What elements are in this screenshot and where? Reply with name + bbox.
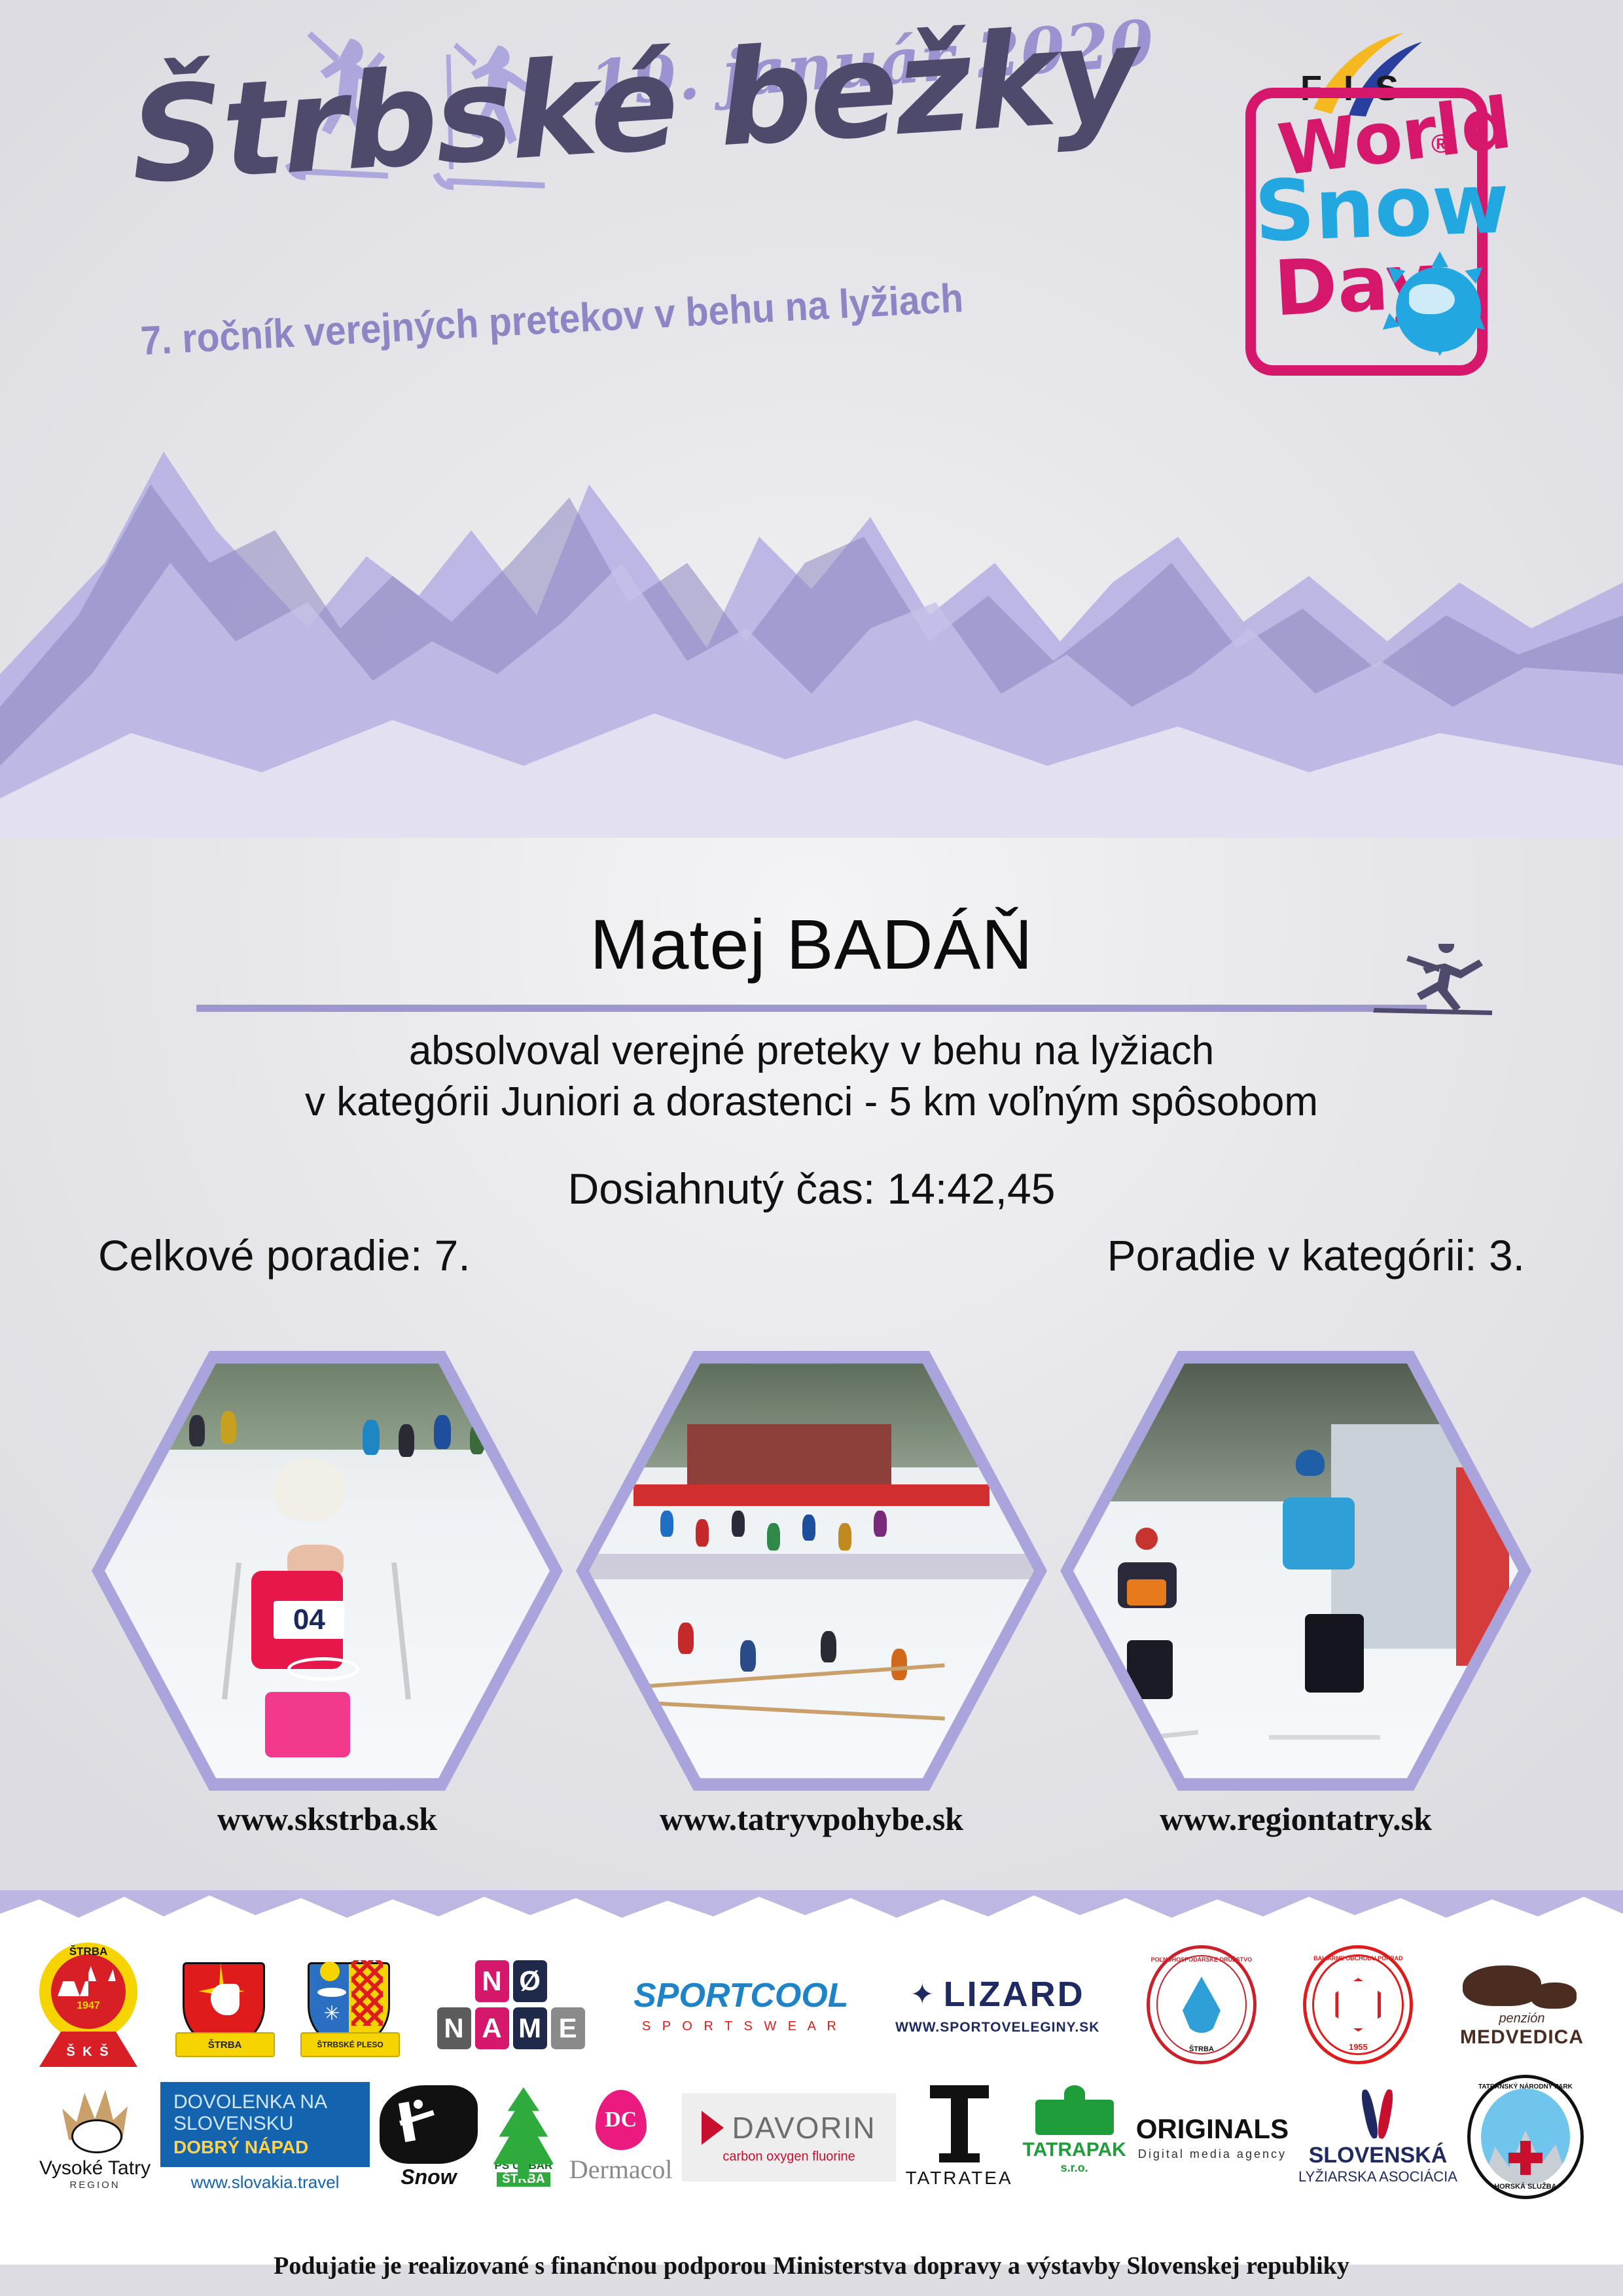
photo-image-1: 04	[105, 1355, 550, 1787]
sponsor-tatrapak: TATRAPAK s.r.o.	[1023, 2100, 1126, 2175]
overall-rank: Celkové poradie: 7.	[98, 1230, 471, 1280]
sponsor-label: MEDVEDICA	[1460, 2026, 1584, 2049]
poster-page: ˇ 19. január 2020 Štrbské bežky 7. roční…	[0, 0, 1623, 2296]
world-snow-day-logo: F I S World ® Snow Day	[1240, 31, 1495, 385]
sponsor-label: TATRANSKÝ NÁRODNÝ PARK	[1471, 2083, 1580, 2090]
sponsor-slovakia-travel: DOVOLENKA NA SLOVENSKU DOBRÝ NÁPAD www.s…	[160, 2082, 370, 2193]
page-subtitle: 7. ročník verejných pretekov v behu na l…	[139, 264, 1164, 365]
sponsor-horska-sluzba: TATRANSKÝ NÁRODNÝ PARK HORSKÁ SLUŽBA	[1467, 2075, 1584, 2199]
funding-note: Podujatie je realizované s finančnou pod…	[0, 2251, 1623, 2280]
sponsor-baliarne-poprad: BALIARNE OBCHODU POPRAD 1955	[1303, 1945, 1413, 2064]
sponsor-row-2: Vysoké Tatry REGION DOVOLENKA NA SLOVENS…	[39, 2075, 1584, 2199]
poster-header: ˇ 19. január 2020 Štrbské bežky 7. roční…	[0, 0, 1623, 419]
sponsor-davorin: DAVORIN carbon oxygen fluorine	[682, 2093, 895, 2181]
sponsor-pd-strba: POĽNOHOSPODÁRSKE DRUŽSTVO ŠTRBA	[1147, 1945, 1257, 2064]
photo-image-3	[1073, 1355, 1518, 1787]
sponsor-sub2: www.slovakia.travel	[191, 2172, 340, 2193]
sponsor-originals: ORIGINALS Digital media agency	[1136, 2113, 1289, 2161]
sponsor-label: SLOVENSKÁ	[1309, 2143, 1448, 2168]
sponsor-label: ORIGINALS	[1136, 2113, 1289, 2145]
sponsor-sub: LYŽIARSKA ASOCIÁCIA	[1298, 2168, 1457, 2185]
sponsor-label: Dermacol	[569, 2154, 673, 2185]
sponsor-label: TATRAPAK	[1023, 2139, 1126, 2161]
sponsor-sub: DOBRÝ NÁPAD	[173, 2137, 357, 2158]
sponsor-sub: 1955	[1306, 2042, 1410, 2052]
photo-hexagon-2[interactable]: www.tatryvpohybe.sk	[576, 1342, 1047, 1800]
sponsor-sub2: Š K Š	[39, 2045, 137, 2060]
bib-number-1: 04	[274, 1601, 344, 1639]
sponsor-slovenska-lyziarska: SLOVENSKÁ LYŽIARSKA ASOCIÁCIA	[1298, 2089, 1457, 2185]
sponsor-strbske-pleso: ✳ ŠTRBSKÉ PLESO	[310, 1952, 388, 2057]
skier-icon	[1368, 944, 1499, 1016]
sponsor-dermacol: DC Dermacol	[569, 2090, 673, 2185]
sponsor-label: ŠTRBA	[175, 2032, 275, 2057]
sponsor-label: POĽNOHOSPODÁRSKE DRUŽSTVO	[1150, 1956, 1253, 1963]
sponsor-sub: WWW.SPORTOVELEGINY.SK	[895, 2020, 1099, 2036]
sponsor-ps-urbar-strba: PS URBÁR ŠTRBA	[488, 2087, 560, 2187]
sponsor-noname: N Ø N A M E	[435, 1960, 587, 2049]
sponsor-row-1: ŠTRBA 1947 Š K Š ŠTRBA ✳ ŠTRBSKÉ PLESO	[39, 1936, 1584, 2073]
photo-hexagon-1[interactable]: 04 www.skstrba.sk	[92, 1342, 563, 1800]
certificate-line-1: absolvoval verejné preteky v behu na lyž…	[0, 1028, 1623, 1074]
sponsor-label: ŠTRBA	[39, 1945, 137, 1958]
sponsor-sub: ŠTRBA	[1150, 2045, 1253, 2053]
photo-caption-3: www.regiontatry.sk	[1060, 1800, 1531, 1838]
sponsor-lizard: ✦ LIZARD WWW.SPORTOVELEGINY.SK	[895, 1974, 1099, 2036]
sponsor-sub: Digital media agency	[1138, 2147, 1287, 2161]
photo-hexagon-3[interactable]: www.regiontatry.sk	[1060, 1342, 1531, 1800]
sponsor-label: DOVOLENKA NA SLOVENSKU	[173, 2091, 357, 2134]
sponsor-sub: REGION	[69, 2179, 120, 2191]
sponsor-sub: S P O R T S W E A R	[642, 2019, 840, 2034]
lizard-icon: ✦	[910, 1978, 935, 2011]
sponsor-label: DAVORIN	[732, 2110, 876, 2145]
sponsor-tatratea: TATRATEA	[906, 2085, 1013, 2189]
sponsor-label: BALIARNE OBCHODU POPRAD	[1306, 1955, 1410, 1962]
rank-row: Celkové poradie: 7. Poradie v kategórii:…	[98, 1230, 1525, 1280]
sponsor-penzion-medvedica: penzión MEDVEDICA	[1460, 1962, 1584, 2049]
sponsor-sub: s.r.o.	[1061, 2161, 1088, 2175]
globe-icon	[1396, 267, 1481, 352]
sponsor-sk-strba: ŠTRBA 1947 Š K Š	[39, 1943, 137, 2067]
sponsor-sub: DC	[605, 2108, 637, 2132]
sponsor-label: LIZARD	[944, 1974, 1085, 2015]
sponsor-strip: ŠTRBA 1947 Š K Š ŠTRBA ✳ ŠTRBSKÉ PLESO	[0, 1924, 1623, 2265]
registered-mark: ®	[1431, 130, 1450, 159]
mountain-range-graphic	[0, 367, 1623, 838]
sponsor-sub: HORSKÁ SLUŽBA	[1471, 2183, 1580, 2191]
photo-gallery: 04 www.skstrba.sk	[0, 1342, 1623, 1852]
sponsor-label: Vysoké Tatry	[39, 2157, 151, 2179]
sponsor-label: Snow	[401, 2165, 456, 2189]
sponsor-sportcool: SPORTCOOL S P O R T S W E A R	[633, 1976, 848, 2034]
sponsor-obec-strba: ŠTRBA	[185, 1952, 263, 2057]
finish-time: Dosiahnutý čas: 14:42,45	[0, 1164, 1623, 1213]
sponsor-label: TATRATEA	[906, 2168, 1013, 2189]
sponsor-vysoke-tatry: Vysoké Tatry REGION	[39, 2084, 151, 2191]
sponsor-label: ŠTRBSKÉ PLESO	[300, 2032, 400, 2057]
divider-rule	[196, 1005, 1427, 1012]
sponsor-label: SPORTCOOL	[633, 1976, 848, 2015]
sponsor-sub: carbon oxygen fluorine	[722, 2149, 855, 2164]
certificate-line-2: v kategórii Juniori a dorastenci - 5 km …	[0, 1079, 1623, 1125]
category-rank: Poradie v kategórii: 3.	[1107, 1230, 1525, 1280]
sponsor-sub: 1947	[39, 2000, 137, 2012]
photo-caption-1: www.skstrba.sk	[92, 1800, 563, 1838]
photo-caption-2: www.tatryvpohybe.sk	[576, 1800, 1047, 1838]
photo-image-2	[589, 1355, 1034, 1787]
sponsor-snow: Snow	[380, 2085, 478, 2189]
